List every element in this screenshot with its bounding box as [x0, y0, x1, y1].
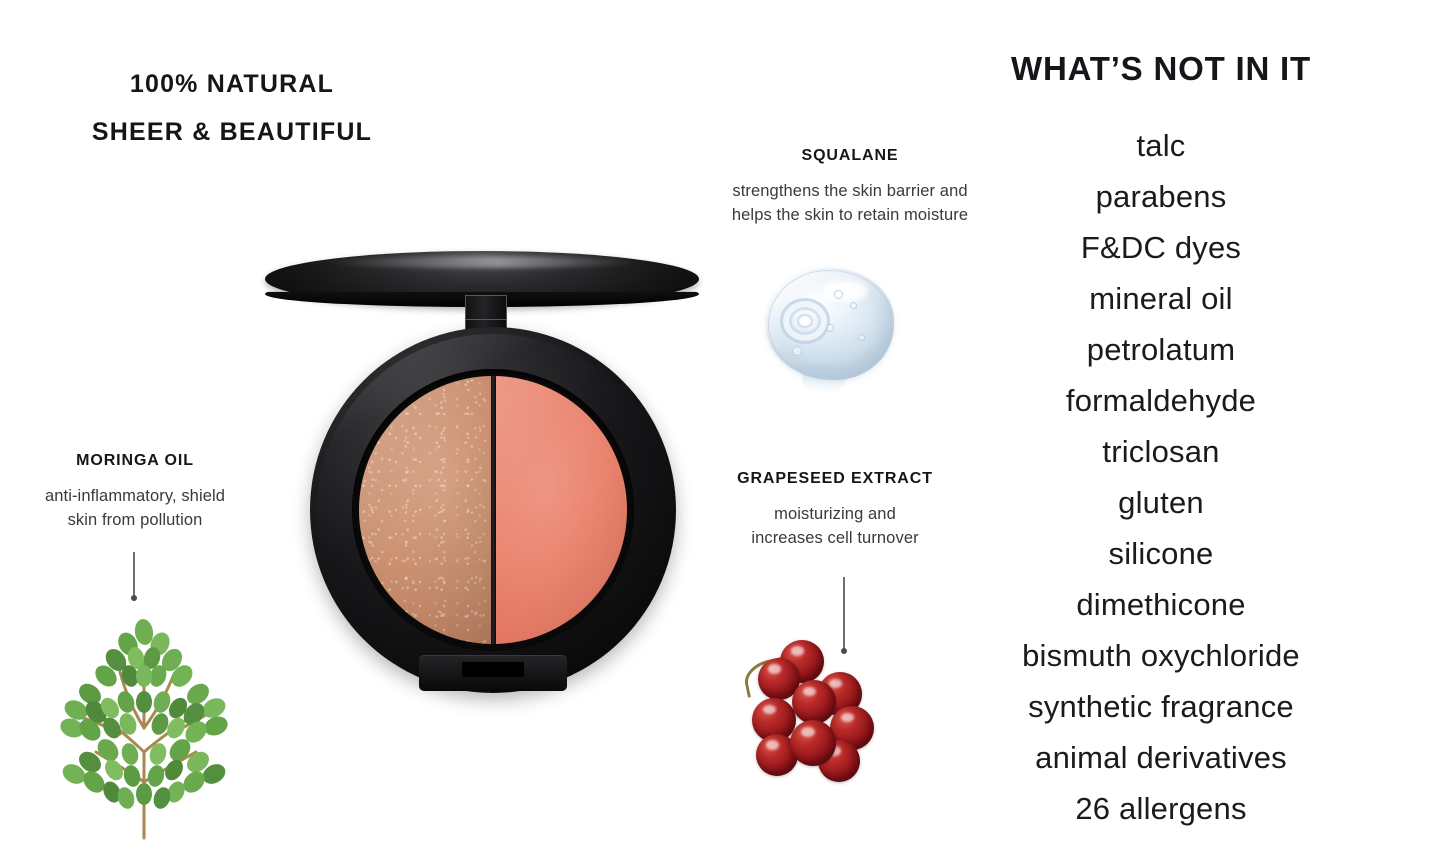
promo-headline-line-2: SHEER & BEAUTIFUL: [46, 108, 418, 156]
callout-moringa-body-line-1: anti-inflammatory, shield: [0, 484, 270, 508]
lid-highlight: [326, 256, 638, 268]
hinge-seam: [466, 319, 506, 320]
moringa-svg: [56, 602, 232, 840]
callout-moringa-body: anti-inflammatory, shield skin from poll…: [0, 484, 270, 532]
gel-bubble: [826, 324, 834, 332]
gel-swirl-core: [797, 314, 813, 328]
moringa-leaves-image: [56, 602, 232, 840]
clasp-tab: [462, 661, 524, 677]
callout-grapeseed-title: GRAPESEED EXTRACT: [690, 470, 980, 488]
callout-grapeseed-body: moisturizing and increases cell turnover: [690, 502, 980, 550]
callout-grapeseed-extract: GRAPESEED EXTRACT moisturizing and incre…: [690, 470, 980, 550]
gel-bubble: [858, 334, 865, 341]
excluded-ingredient-item: petrolatum: [941, 324, 1381, 375]
pan-shimmer-peach: [359, 376, 491, 645]
grape-cluster-image: [744, 636, 902, 786]
gel-droplet-image: [762, 268, 902, 394]
excluded-ingredient-item: bismuth oxychloride: [941, 630, 1381, 681]
compact-clasp: [419, 655, 567, 691]
pan-divider: [491, 376, 496, 645]
callout-squalane-body-line-1: strengthens the skin barrier and: [670, 179, 1030, 203]
excluded-ingredient-item: triclosan: [941, 426, 1381, 477]
gel-bubble: [850, 302, 857, 309]
promo-headline: 100% NATURAL SHEER & BEAUTIFUL: [46, 60, 418, 156]
excluded-ingredients-list: talc parabens F&DC dyes mineral oil petr…: [941, 120, 1381, 834]
pan-matte-coral: [495, 376, 627, 645]
pointer-dot: [131, 595, 138, 602]
excluded-ingredient-item: gluten: [941, 477, 1381, 528]
promo-headline-line-1: 100% NATURAL: [46, 60, 418, 108]
excluded-ingredient-item: mineral oil: [941, 273, 1381, 324]
whats-not-in-it-title: WHAT’S NOT IN IT: [941, 50, 1381, 88]
callout-moringa-body-line-2: skin from pollution: [0, 508, 270, 532]
excluded-ingredient-item: synthetic fragrance: [941, 681, 1381, 732]
infographic-canvas: 100% NATURAL SHEER & BEAUTIFUL WHAT’S NO…: [0, 0, 1445, 842]
callout-squalane-body: strengthens the skin barrier and helps t…: [670, 179, 1030, 227]
grape: [792, 680, 836, 724]
pointer-stem: [133, 552, 135, 598]
gel-swirl: [780, 298, 830, 344]
excluded-ingredient-item: F&DC dyes: [941, 222, 1381, 273]
excluded-ingredient-item: formaldehyde: [941, 375, 1381, 426]
callout-grapeseed-body-line-2: increases cell turnover: [690, 526, 980, 550]
pan-gloss: [495, 376, 627, 645]
gel-bubble: [792, 346, 802, 356]
grape: [790, 720, 836, 766]
pan-gloss: [359, 376, 491, 645]
callout-squalane-title: SQUALANE: [670, 147, 1030, 165]
excluded-ingredient-item: silicone: [941, 528, 1381, 579]
gel-highlight: [822, 280, 868, 302]
blush-compact-product-image: [262, 243, 710, 701]
excluded-ingredient-item: 26 allergens: [941, 783, 1381, 834]
excluded-ingredient-item: dimethicone: [941, 579, 1381, 630]
callout-grapeseed-body-line-1: moisturizing and: [690, 502, 980, 526]
callout-moringa-oil: MORINGA OIL anti-inflammatory, shield sk…: [0, 452, 270, 532]
excluded-ingredient-item: animal derivatives: [941, 732, 1381, 783]
gel-bubble: [834, 290, 843, 299]
compact-case: [310, 327, 676, 693]
callout-squalane-body-line-2: helps the skin to retain moisture: [670, 203, 1030, 227]
callout-squalane: SQUALANE strengthens the skin barrier an…: [670, 147, 1030, 227]
callout-moringa-title: MORINGA OIL: [0, 452, 270, 470]
blush-pans: [359, 376, 628, 645]
